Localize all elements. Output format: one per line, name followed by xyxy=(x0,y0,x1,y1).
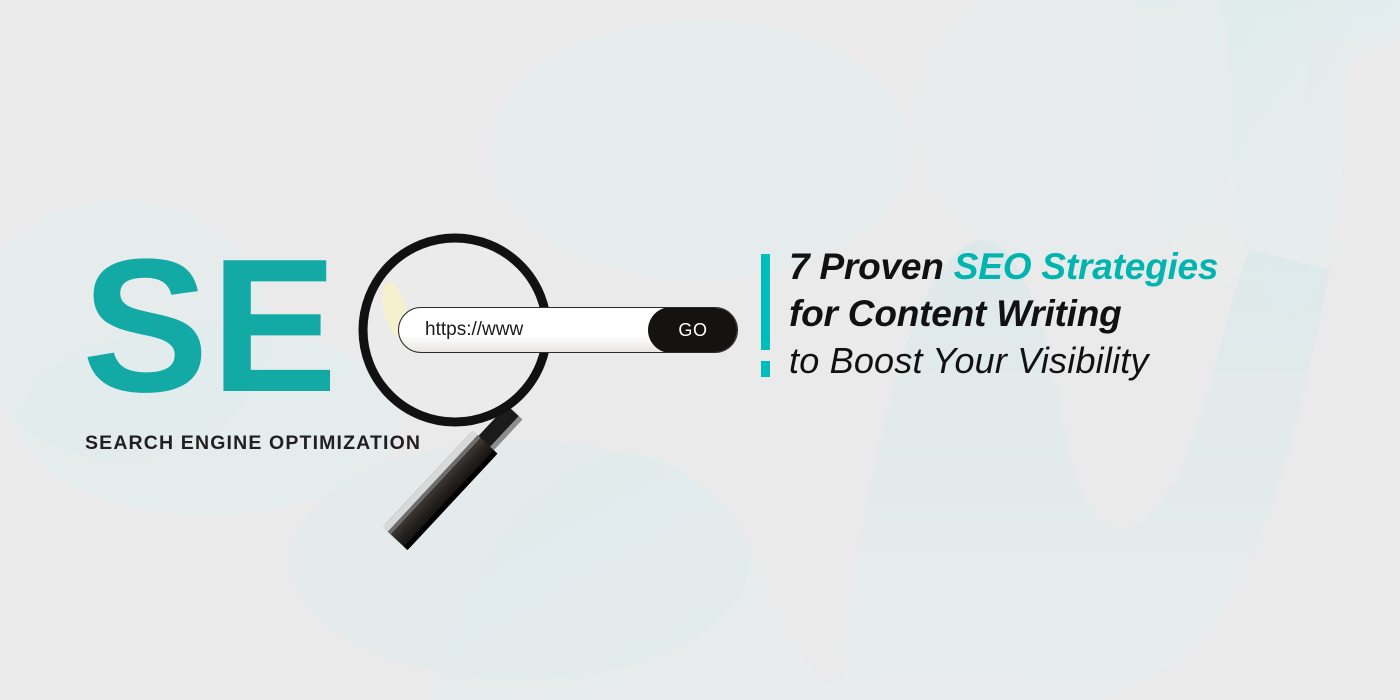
headline-accent-bar xyxy=(761,254,770,350)
seo-logo: SE SEARCH ENGINE OPTIMIZATION xyxy=(82,236,382,426)
headline: 7 Proven SEO Strategies for Content Writ… xyxy=(789,243,1329,384)
go-button-label: GO xyxy=(678,320,707,341)
headline-accent-dot xyxy=(761,361,770,377)
seo-banner: SE SEARCH ENGINE OPTIMIZATION xyxy=(0,0,1400,700)
headline-line-3: to Boost Your Visibility xyxy=(789,337,1329,384)
headline-line-1-accent: SEO Strategies xyxy=(954,246,1219,287)
headline-line-1-plain: 7 Proven xyxy=(789,246,954,287)
search-bar[interactable]: https://www GO xyxy=(398,307,738,353)
headline-line-1: 7 Proven SEO Strategies xyxy=(789,243,1329,290)
magnifying-glass-icon xyxy=(340,225,760,585)
seo-logo-letters: SE xyxy=(82,236,382,426)
search-input[interactable]: https://www xyxy=(425,319,523,341)
go-button[interactable]: GO xyxy=(648,307,738,353)
headline-line-2: for Content Writing xyxy=(789,290,1329,337)
